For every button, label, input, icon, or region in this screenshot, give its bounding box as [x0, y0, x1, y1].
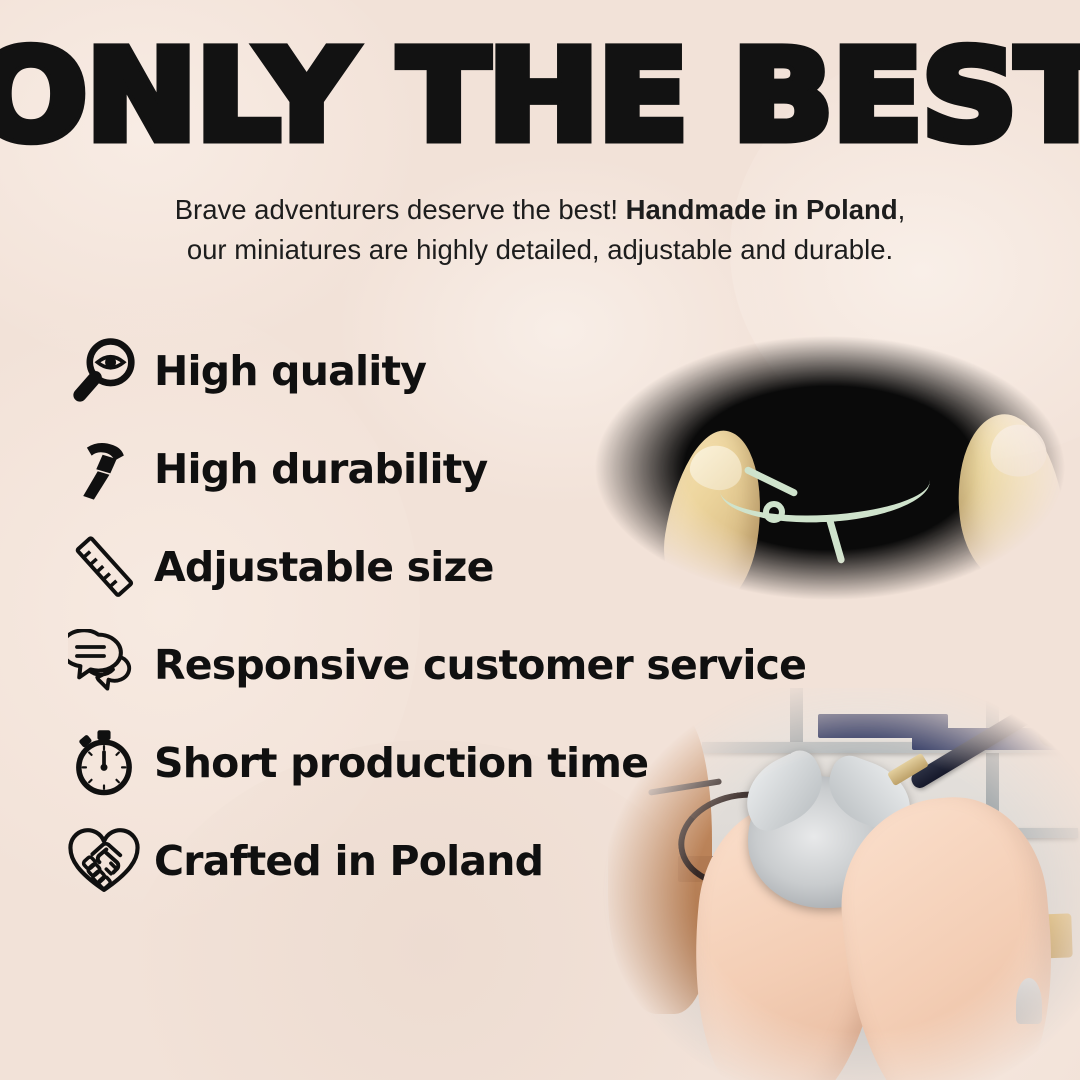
painting-workshop-photo	[582, 688, 1080, 1080]
subtitle-line2: our miniatures are highly detailed, adju…	[187, 234, 893, 265]
feature-label: High durability	[154, 445, 487, 493]
subtitle-bold: Handmade in Poland	[626, 194, 898, 225]
speech-bubbles-icon	[62, 623, 146, 707]
miniature-flex-part	[763, 501, 785, 523]
feature-label: Crafted in Poland	[154, 837, 543, 885]
page-title: ONLY THE BEST	[0, 34, 1080, 159]
flexible-miniature-photo	[580, 318, 1080, 618]
hammer-icon	[62, 427, 146, 511]
promo-poster: ONLY THE BEST Brave adventurers deserve …	[0, 0, 1080, 1080]
feature-label: High quality	[154, 347, 426, 395]
magnifier-eye-icon	[62, 329, 146, 413]
ruler-icon	[62, 525, 146, 609]
handshake-heart-icon	[62, 819, 146, 903]
feature-label: Adjustable size	[154, 543, 494, 591]
subtitle-lead: Brave adventurers deserve the best!	[175, 194, 618, 225]
feature-label: Responsive customer service	[154, 641, 806, 689]
unpainted-miniature	[1016, 978, 1042, 1024]
feature-label: Short production time	[154, 739, 648, 787]
subtitle-comma: ,	[898, 194, 906, 225]
page-subtitle: Brave adventurers deserve the best! Hand…	[90, 190, 990, 270]
stopwatch-icon	[62, 721, 146, 805]
